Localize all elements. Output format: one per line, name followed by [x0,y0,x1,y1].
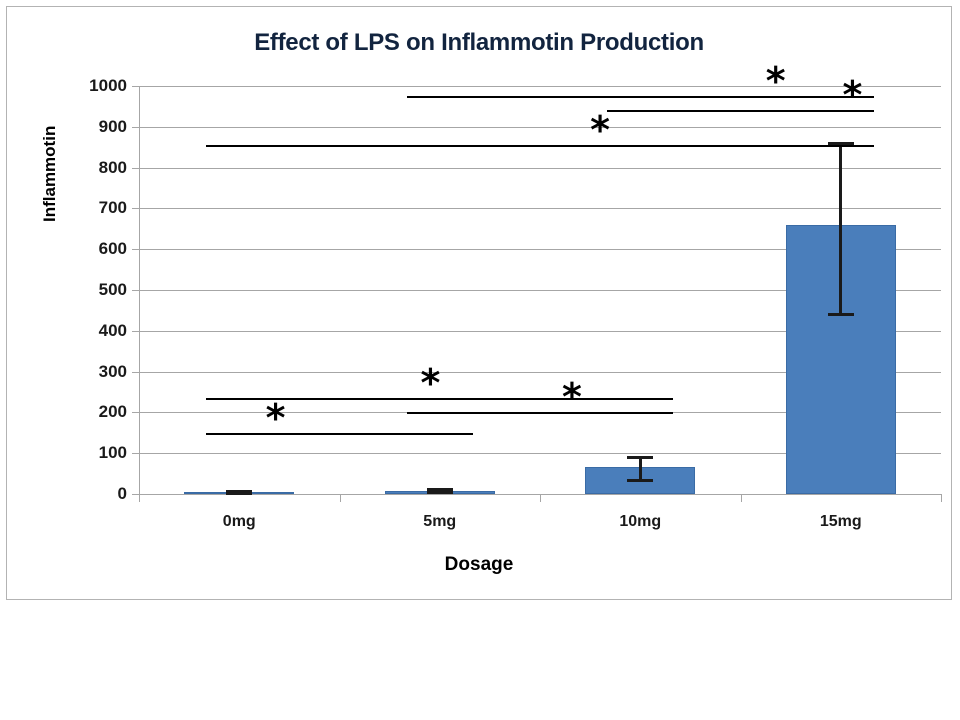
y-tick-label: 100 [99,443,127,463]
gridline [139,86,941,87]
x-tick-label: 15mg [820,513,862,531]
y-tick-label: 700 [99,198,127,218]
y-tick-mark [132,372,139,373]
significance-asterisk: * [843,76,863,114]
significance-asterisk: * [562,378,582,416]
y-tick-label: 300 [99,362,127,382]
significance-asterisk: * [590,111,610,149]
y-tick-label: 900 [99,117,127,137]
significance-line [407,96,874,98]
y-tick-label: 600 [99,239,127,259]
plot-area: ****** [139,86,941,494]
significance-line [607,110,874,112]
significance-line [407,412,674,414]
y-tick-label: 0 [118,484,127,504]
x-tick-label: 0mg [223,513,256,531]
error-bar-cap-lower [627,479,653,482]
x-tick-mark [741,494,742,502]
y-tick-label: 1000 [89,76,127,96]
y-tick-mark [132,86,139,87]
error-bar-line [639,457,642,479]
x-tick-label: 10mg [619,513,661,531]
error-bar-cap-lower [226,492,252,495]
error-bar-line [839,143,842,314]
y-tick-mark [132,127,139,128]
y-tick-mark [132,168,139,169]
y-axis-title: Inflammotin [40,126,60,222]
x-tick-mark [941,494,942,502]
y-tick-mark [132,453,139,454]
y-tick-label: 800 [99,158,127,178]
chart-container: Effect of LPS on Inflammotin Production … [6,6,952,600]
significance-line [206,433,473,435]
error-bar-cap-upper [627,456,653,459]
error-bar-cap-lower [427,491,453,494]
significance-line [206,145,874,147]
gridline [139,208,941,209]
y-tick-mark [132,290,139,291]
y-tick-mark [132,412,139,413]
y-tick-mark [132,494,139,495]
gridline [139,168,941,169]
x-tick-mark [139,494,140,502]
significance-asterisk: * [420,364,440,402]
x-tick-mark [340,494,341,502]
y-tick-label: 200 [99,402,127,422]
x-axis-title: Dosage [7,554,951,576]
significance-asterisk: * [266,399,286,437]
x-tick-mark [540,494,541,502]
y-tick-label: 500 [99,280,127,300]
chart-title: Effect of LPS on Inflammotin Production [7,29,951,57]
y-tick-mark [132,249,139,250]
gridline [139,127,941,128]
y-tick-label: 400 [99,321,127,341]
error-bar-cap-lower [828,313,854,316]
y-tick-mark [132,208,139,209]
x-tick-label: 5mg [423,513,456,531]
y-tick-mark [132,331,139,332]
significance-asterisk: * [766,62,786,100]
